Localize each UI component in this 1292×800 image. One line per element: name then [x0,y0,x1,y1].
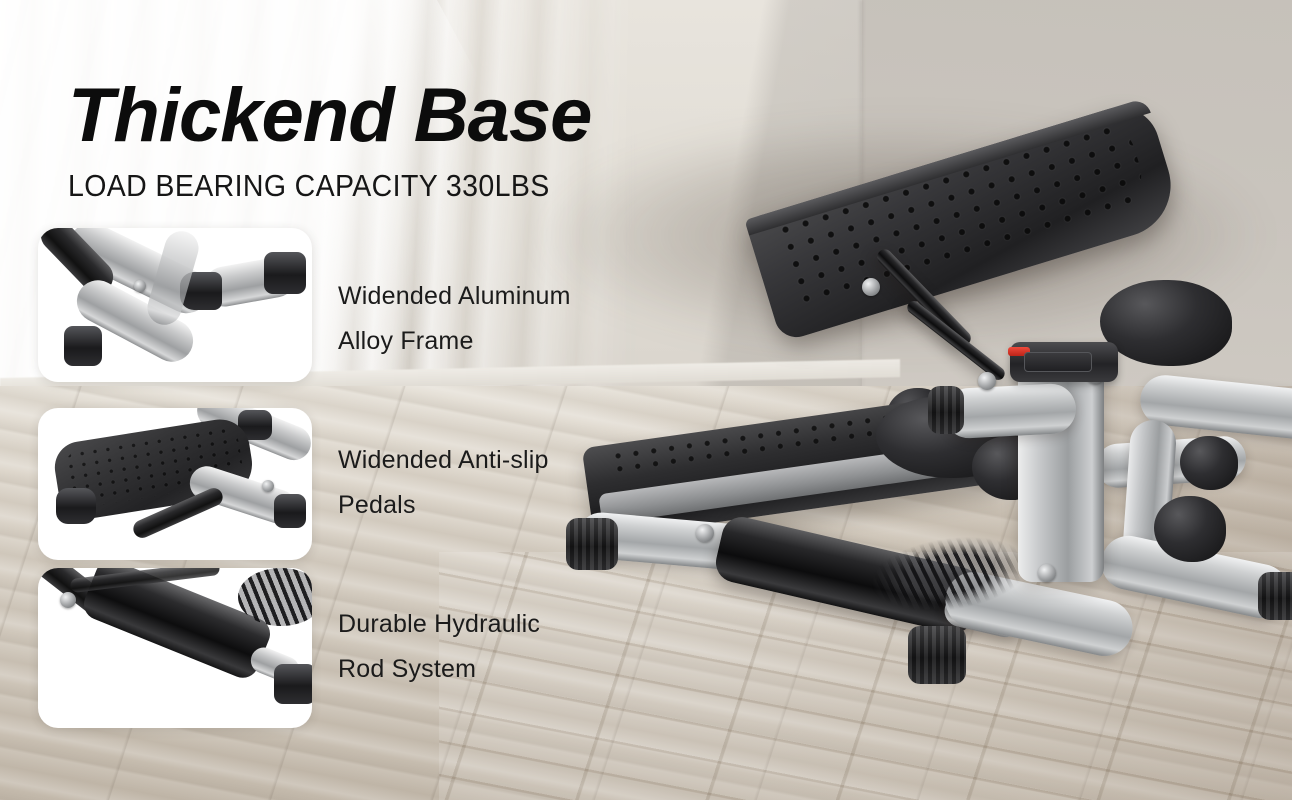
feature-label-anti-slip-pedals: Widended Anti-slip Pedals [338,438,549,527]
subtitle-load-capacity: LOAD BEARING CAPACITY 330LBS [68,168,550,204]
column-bolt-left [978,372,996,390]
column-bolt-bottom [1038,564,1056,582]
thumb2-bolt [262,480,274,492]
feature-thumbnail-aluminum-alloy-frame [38,228,312,382]
lcd-screen [1024,352,1092,372]
pedal-anti-slip-dots [773,116,1151,310]
foot-pad-right [1154,496,1226,562]
frame-bolt-left [696,524,714,542]
pedal-pivot-cover-upper [1100,280,1232,366]
thumb3-end-cap [274,664,312,704]
page-title: Thickend Base [68,78,591,154]
feature-label-line1: Durable Hydraulic [338,602,540,647]
thumb2-end-cap-left [56,488,96,524]
end-cap-rear-right [1258,572,1292,620]
end-cap-front-right [908,626,966,684]
feature-label-line2: Pedals [338,483,549,528]
feature-label-line1: Widended Anti-slip [338,438,549,483]
thumb3-bolt [60,592,76,608]
feature-label-aluminum-alloy-frame: Widended Aluminum Alloy Frame [338,274,571,363]
feature-label-line1: Widended Aluminum [338,274,571,319]
lcd-monitor[interactable] [1010,342,1118,382]
feature-thumbnail-anti-slip-pedals [38,408,312,560]
feature-label-hydraulic-rod-system: Durable Hydraulic Rod System [338,602,540,691]
foot-pad-right-b [1180,436,1238,490]
thumb2-end-cap-right [274,494,306,528]
end-cap-left-upper [928,386,964,434]
pedal-support-arm-upper-b [905,298,1008,382]
feature-label-line2: Rod System [338,647,540,692]
mini-stepper-product-image [540,120,1292,740]
thumb1-end-cap-left [64,326,102,366]
feature-thumbnail-hydraulic-rod-system [38,568,312,728]
thumb1-end-cap-right [264,252,306,294]
end-cap-front-left [566,518,618,570]
feature-label-line2: Alloy Frame [338,319,571,364]
pivot-bolt-upper [862,278,880,296]
thumb1-bolt [134,280,146,292]
product-feature-banner: Thickend Base LOAD BEARING CAPACITY 330L… [0,0,1292,800]
